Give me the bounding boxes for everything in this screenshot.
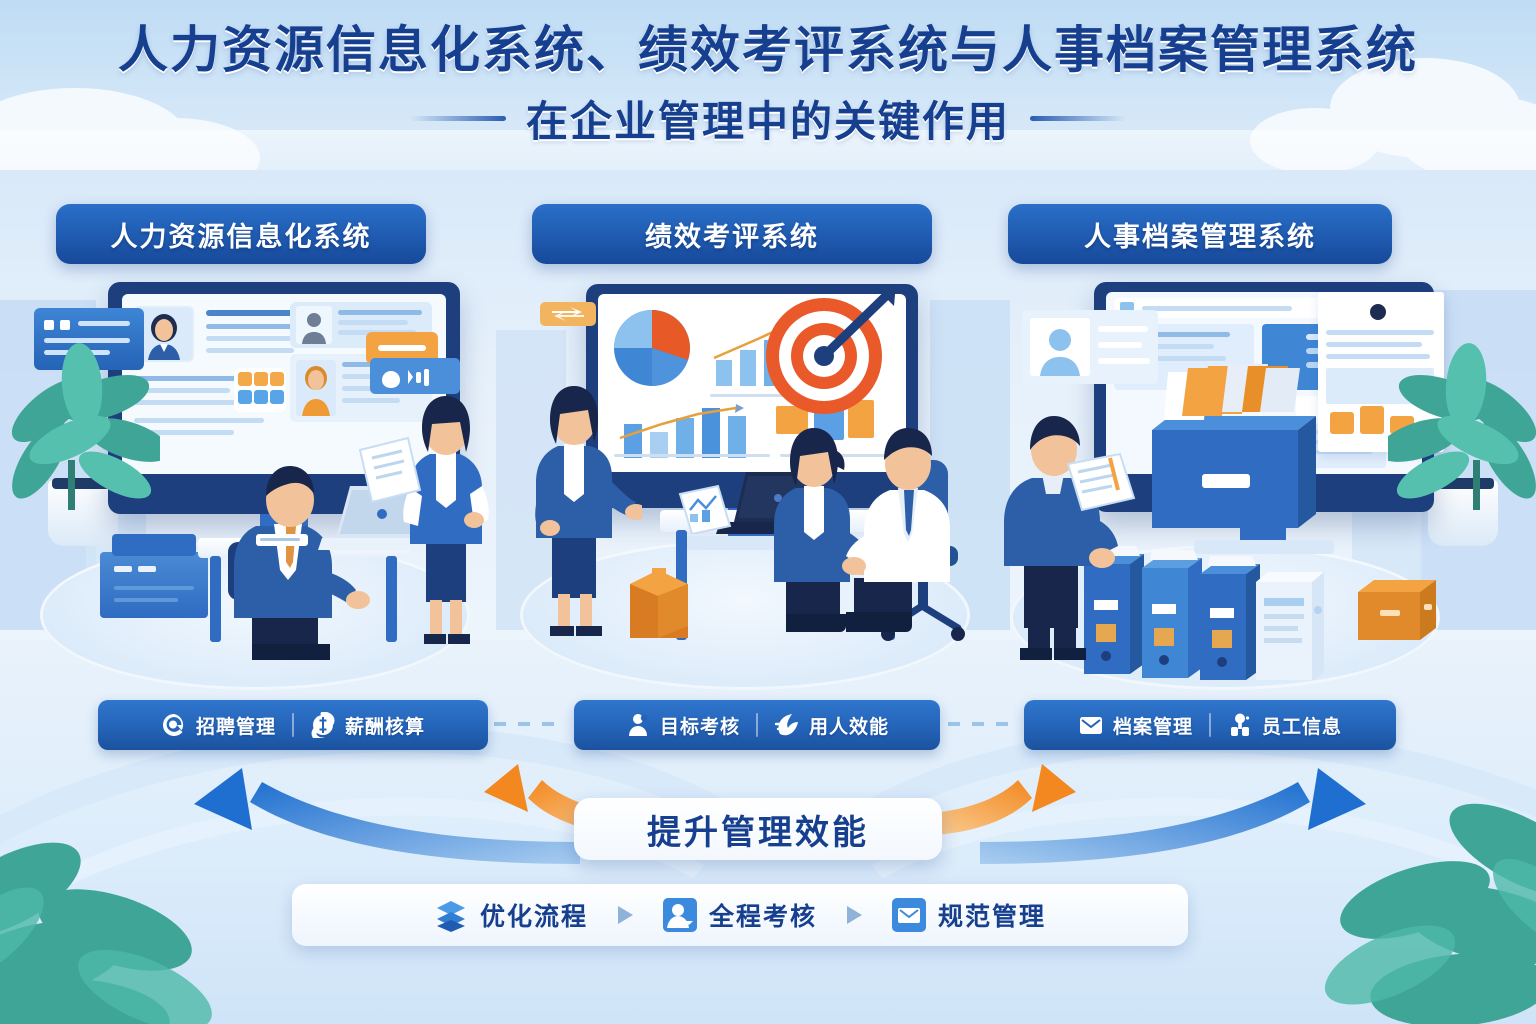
mail-icon — [892, 898, 926, 932]
panel-header-performance-evaluation-system[interactable]: 绩效考评系统 — [532, 204, 932, 264]
feature-label: 用人效能 — [809, 712, 889, 739]
header: 人力资源信息化系统、绩效考评系统与人事档案管理系统 在企业管理中的关键作用 — [0, 22, 1536, 149]
envelope-icon — [1078, 712, 1104, 738]
bottom-bar[interactable]: 优化流程 全程考核 规范管理 — [292, 884, 1188, 946]
stat-cell-1 — [238, 372, 252, 386]
bottom-item-label: 优化流程 — [480, 897, 588, 933]
notif-line-1 — [78, 321, 130, 326]
bottom-item-assessment[interactable]: 全程考核 — [663, 897, 817, 933]
panel-heading-label: 人事档案管理系统 — [1084, 215, 1316, 254]
feature-label: 目标考核 — [660, 712, 740, 739]
stat-cell-6 — [270, 390, 284, 404]
report-bar-1 — [1330, 412, 1354, 434]
feature-efficiency[interactable]: 用人效能 — [774, 712, 889, 739]
pill-connector-left — [494, 722, 566, 726]
stat-cell-3 — [270, 372, 284, 386]
recruit-icon — [161, 712, 187, 738]
bottom-item-optimize[interactable]: 优化流程 — [434, 897, 588, 933]
right-profile-line-1 — [1098, 326, 1148, 332]
right-profile-line-2 — [1098, 342, 1142, 348]
panel-header-personnel-archive-system[interactable]: 人事档案管理系统 — [1008, 204, 1392, 264]
feature-label: 招聘管理 — [196, 712, 276, 739]
orange-tag-line — [378, 345, 426, 351]
right-browser-url — [1142, 306, 1292, 311]
feature-archive[interactable]: 档案管理 — [1078, 712, 1193, 739]
feature-employee-info[interactable]: 员工信息 — [1227, 712, 1342, 739]
feature-label: 薪酬核算 — [345, 712, 425, 739]
panel-header-hr-information-system[interactable]: 人力资源信息化系统 — [56, 204, 426, 264]
profile-line-4 — [206, 348, 294, 353]
feature-target-assessment[interactable]: 目标考核 — [625, 712, 740, 739]
user-add-icon — [663, 898, 697, 932]
printer-line-1 — [114, 586, 194, 590]
printer-slot-1 — [114, 566, 132, 572]
left-notepad-line — [260, 538, 300, 541]
feature-salary[interactable]: 薪酬核算 — [310, 712, 425, 739]
bottom-item-label: 全程考核 — [709, 897, 817, 933]
bottom-item-label: 规范管理 — [938, 897, 1046, 933]
center-badge-label: 提升管理效能 — [647, 805, 869, 854]
blue-arrow-right — [960, 752, 1380, 872]
bottom-item-management[interactable]: 规范管理 — [892, 897, 1046, 933]
layers-icon — [434, 898, 468, 932]
stat-cell-5 — [254, 390, 268, 404]
center-badge[interactable]: 提升管理效能 — [574, 798, 942, 860]
report-bar-2 — [1360, 406, 1384, 434]
pill-separator — [292, 713, 294, 737]
stat-cell-2 — [254, 372, 268, 386]
notif-dot-1 — [44, 320, 54, 330]
bottom-separator-1 — [618, 906, 633, 924]
feature-recruit[interactable]: 招聘管理 — [161, 712, 276, 739]
card-b-line-2 — [338, 320, 408, 325]
pill-separator — [756, 713, 758, 737]
feature-pill-hr-information-system[interactable]: 招聘管理 薪酬核算 — [98, 700, 488, 750]
feature-label: 员工信息 — [1262, 712, 1342, 739]
approval-icons — [378, 366, 448, 388]
feature-label: 档案管理 — [1113, 712, 1193, 739]
printer-body — [100, 552, 208, 618]
pill-connector-right — [948, 722, 1020, 726]
avatar-silhouette-icon — [296, 306, 332, 344]
printer-line-2 — [114, 598, 178, 602]
panel-heading-label: 人力资源信息化系统 — [111, 215, 372, 254]
panel-heading-label: 绩效考评系统 — [645, 215, 819, 254]
pill-separator — [1209, 713, 1211, 737]
card-b-line-1 — [338, 310, 422, 315]
speed-icon — [774, 712, 800, 738]
feature-pill-performance-evaluation-system[interactable]: 目标考核 用人效能 — [574, 700, 940, 750]
page-subtitle: 在企业管理中的关键作用 — [526, 88, 1010, 149]
employee-icon — [1227, 712, 1253, 738]
page-title: 人力资源信息化系统、绩效考评系统与人事档案管理系统 — [0, 22, 1536, 78]
target-person-icon — [625, 712, 651, 738]
report-punch-hole — [1370, 304, 1386, 320]
subtitle-dash-right — [1030, 116, 1126, 121]
transfer-arrows-icon — [550, 307, 586, 321]
subtitle-dash-left — [410, 116, 506, 121]
notif-dot-2 — [60, 320, 70, 330]
printer-slot-2 — [138, 566, 156, 572]
subtitle-row: 在企业管理中的关键作用 — [0, 88, 1536, 149]
infographic-canvas: 人力资源信息化系统、绩效考评系统与人事档案管理系统 在企业管理中的关键作用 — [0, 0, 1536, 1024]
target-with-arrow-icon — [762, 282, 898, 418]
plant-right-large — [1388, 340, 1536, 560]
plant-left-large — [10, 340, 160, 560]
salary-icon — [310, 712, 336, 738]
avatar-orange-icon — [296, 360, 336, 416]
stat-cell-4 — [238, 390, 252, 404]
report-line-1 — [1326, 330, 1434, 335]
profile-avatar-icon — [1030, 318, 1090, 376]
bottom-separator-2 — [847, 906, 862, 924]
feature-pill-personnel-archive-system[interactable]: 档案管理 员工信息 — [1024, 700, 1396, 750]
